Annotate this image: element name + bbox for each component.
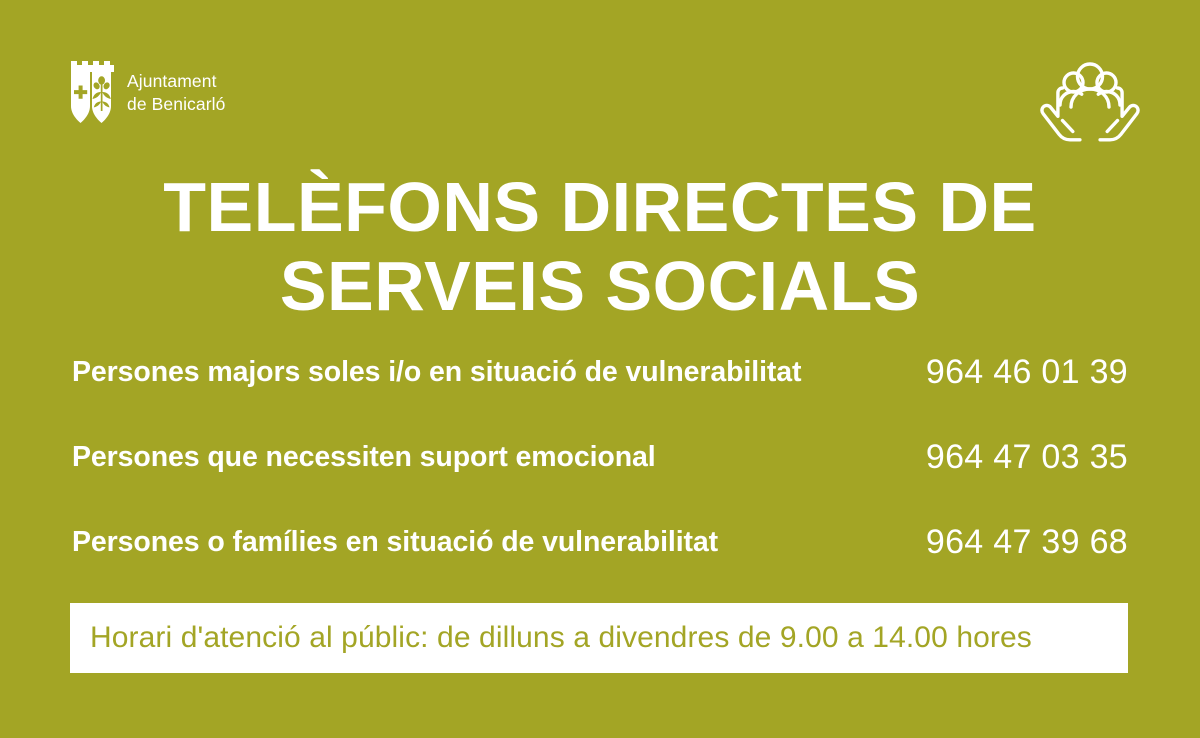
- page-title: TELÈFONS DIRECTES DE SERVEIS SOCIALS: [0, 168, 1200, 326]
- poster-canvas: Ajuntament de Benicarló: [0, 0, 1200, 738]
- brand-line-2: de Benicarló: [127, 94, 225, 114]
- phone-number[interactable]: 964 47 39 68: [926, 522, 1128, 562]
- page-title-line-2: SERVEIS SOCIALS: [0, 247, 1200, 326]
- brand-block: Ajuntament de Benicarló: [68, 58, 225, 126]
- phone-number[interactable]: 964 46 01 39: [926, 352, 1128, 392]
- phone-list-item: Persones que necessiten suport emocional…: [70, 437, 1130, 522]
- hands-holding-people-icon: [1038, 58, 1142, 142]
- brand-name: Ajuntament de Benicarló: [127, 68, 225, 117]
- phone-number[interactable]: 964 47 03 35: [926, 437, 1128, 477]
- phone-service-label: Persones que necessiten suport emocional: [72, 437, 656, 477]
- phone-list-item: Persones majors soles i/o en situació de…: [70, 352, 1130, 437]
- benicarlo-coat-of-arms-icon: [68, 58, 114, 126]
- opening-hours-banner: Horari d'atenció al públic: de dilluns a…: [70, 603, 1128, 673]
- brand-line-1: Ajuntament: [127, 71, 217, 91]
- phone-list: Persones majors soles i/o en situació de…: [70, 352, 1130, 607]
- opening-hours-text: Horari d'atenció al públic: de dilluns a…: [70, 620, 1032, 656]
- page-title-line-1: TELÈFONS DIRECTES DE: [0, 168, 1200, 247]
- poster-header: Ajuntament de Benicarló: [0, 0, 1200, 160]
- phone-service-label: Persones o famílies en situació de vulne…: [72, 522, 718, 562]
- phone-list-item: Persones o famílies en situació de vulne…: [70, 522, 1130, 607]
- phone-service-label: Persones majors soles i/o en situació de…: [72, 352, 801, 392]
